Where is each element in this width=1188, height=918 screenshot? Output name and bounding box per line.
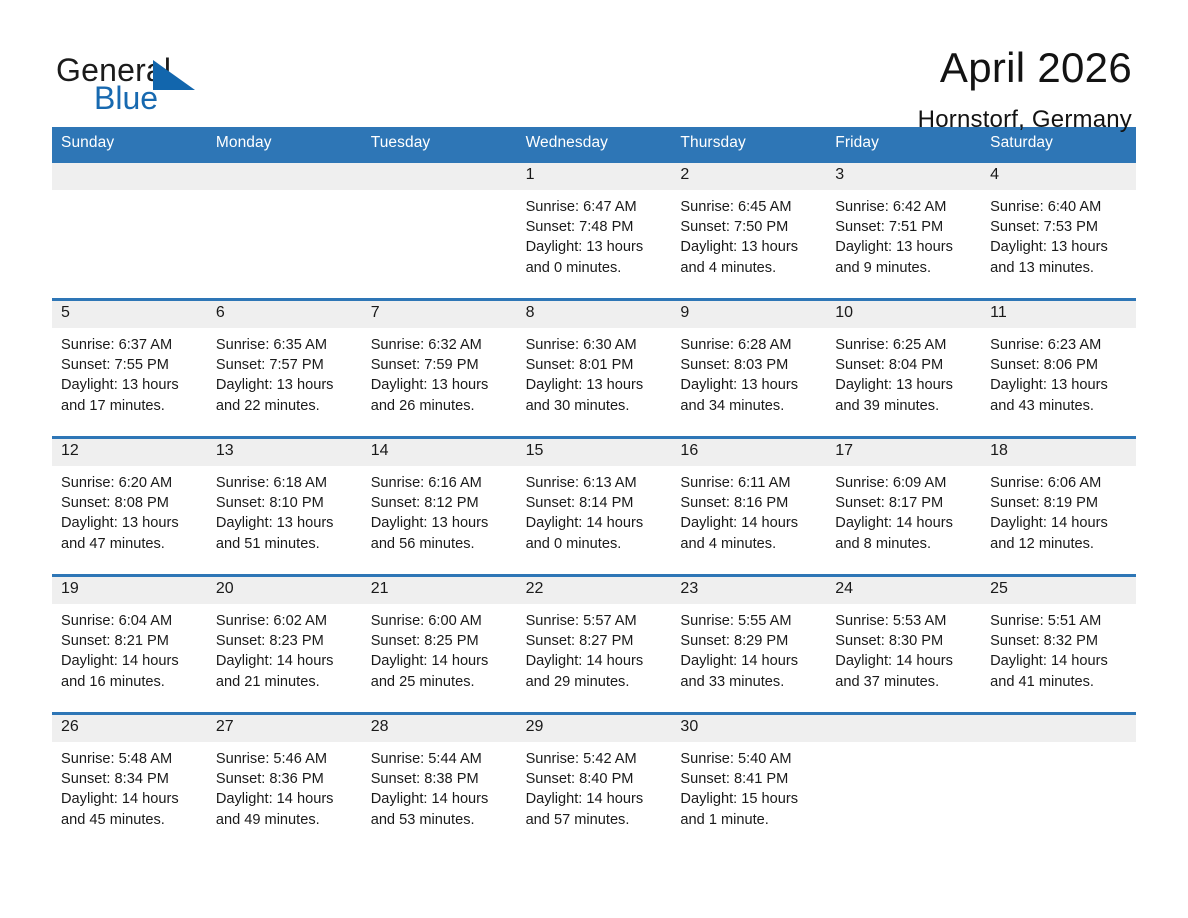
- day-info: Sunrise: 5:48 AM Sunset: 8:34 PM Dayligh…: [52, 742, 207, 830]
- day-cell[interactable]: 28 Sunrise: 5:44 AM Sunset: 8:38 PM Dayl…: [362, 715, 517, 850]
- day-number: 8: [517, 301, 672, 328]
- daylight-text: Daylight: 14 hours and 37 minutes.: [835, 651, 973, 691]
- day-info: Sunrise: 6:00 AM Sunset: 8:25 PM Dayligh…: [362, 604, 517, 692]
- day-info: Sunrise: 6:06 AM Sunset: 8:19 PM Dayligh…: [981, 466, 1136, 554]
- day-cell[interactable]: 23 Sunrise: 5:55 AM Sunset: 8:29 PM Dayl…: [671, 577, 826, 712]
- day-info: [207, 190, 362, 197]
- sunset-text: Sunset: 8:25 PM: [371, 631, 509, 651]
- day-cell[interactable]: 21 Sunrise: 6:00 AM Sunset: 8:25 PM Dayl…: [362, 577, 517, 712]
- daylight-text: Daylight: 13 hours and 4 minutes.: [680, 237, 818, 277]
- daylight-text: Daylight: 14 hours and 49 minutes.: [216, 789, 354, 829]
- sunset-text: Sunset: 8:17 PM: [835, 493, 973, 513]
- day-number: 12: [52, 439, 207, 466]
- day-cell[interactable]: 9 Sunrise: 6:28 AM Sunset: 8:03 PM Dayli…: [671, 301, 826, 436]
- day-cell: [826, 715, 981, 850]
- daylight-text: Daylight: 13 hours and 9 minutes.: [835, 237, 973, 277]
- day-info: [52, 190, 207, 197]
- daylight-text: Daylight: 14 hours and 16 minutes.: [61, 651, 199, 691]
- week-row: 1 Sunrise: 6:47 AM Sunset: 7:48 PM Dayli…: [52, 160, 1136, 298]
- day-number: 18: [981, 439, 1136, 466]
- day-info: Sunrise: 6:40 AM Sunset: 7:53 PM Dayligh…: [981, 190, 1136, 278]
- day-cell[interactable]: 14 Sunrise: 6:16 AM Sunset: 8:12 PM Dayl…: [362, 439, 517, 574]
- daylight-text: Daylight: 14 hours and 57 minutes.: [526, 789, 664, 829]
- day-info: Sunrise: 5:55 AM Sunset: 8:29 PM Dayligh…: [671, 604, 826, 692]
- day-number: [207, 163, 362, 190]
- day-info: [362, 190, 517, 197]
- day-cell[interactable]: 4 Sunrise: 6:40 AM Sunset: 7:53 PM Dayli…: [981, 163, 1136, 298]
- sunrise-text: Sunrise: 6:32 AM: [371, 335, 509, 355]
- general-blue-logo[interactable]: General Blue: [56, 44, 206, 116]
- day-cell[interactable]: 29 Sunrise: 5:42 AM Sunset: 8:40 PM Dayl…: [517, 715, 672, 850]
- daylight-text: Daylight: 15 hours and 1 minute.: [680, 789, 818, 829]
- sunset-text: Sunset: 8:29 PM: [680, 631, 818, 651]
- sunrise-text: Sunrise: 6:37 AM: [61, 335, 199, 355]
- week-row: 26 Sunrise: 5:48 AM Sunset: 8:34 PM Dayl…: [52, 712, 1136, 850]
- sunrise-text: Sunrise: 6:06 AM: [990, 473, 1128, 493]
- day-number: 24: [826, 577, 981, 604]
- day-info: Sunrise: 6:42 AM Sunset: 7:51 PM Dayligh…: [826, 190, 981, 278]
- sunset-text: Sunset: 8:38 PM: [371, 769, 509, 789]
- day-number: [362, 163, 517, 190]
- day-number: 30: [671, 715, 826, 742]
- day-number: 23: [671, 577, 826, 604]
- day-info: Sunrise: 6:13 AM Sunset: 8:14 PM Dayligh…: [517, 466, 672, 554]
- day-info: Sunrise: 5:42 AM Sunset: 8:40 PM Dayligh…: [517, 742, 672, 830]
- day-cell[interactable]: 17 Sunrise: 6:09 AM Sunset: 8:17 PM Dayl…: [826, 439, 981, 574]
- day-info: Sunrise: 6:47 AM Sunset: 7:48 PM Dayligh…: [517, 190, 672, 278]
- day-cell: [207, 163, 362, 298]
- day-cell[interactable]: 5 Sunrise: 6:37 AM Sunset: 7:55 PM Dayli…: [52, 301, 207, 436]
- sunrise-text: Sunrise: 6:16 AM: [371, 473, 509, 493]
- weekday-header-tuesday: Tuesday: [362, 127, 517, 160]
- day-info: Sunrise: 6:09 AM Sunset: 8:17 PM Dayligh…: [826, 466, 981, 554]
- sunset-text: Sunset: 8:41 PM: [680, 769, 818, 789]
- day-cell[interactable]: 10 Sunrise: 6:25 AM Sunset: 8:04 PM Dayl…: [826, 301, 981, 436]
- day-number: 10: [826, 301, 981, 328]
- daylight-text: Daylight: 13 hours and 17 minutes.: [61, 375, 199, 415]
- day-info: Sunrise: 5:44 AM Sunset: 8:38 PM Dayligh…: [362, 742, 517, 830]
- day-cell[interactable]: 1 Sunrise: 6:47 AM Sunset: 7:48 PM Dayli…: [517, 163, 672, 298]
- day-cell[interactable]: 25 Sunrise: 5:51 AM Sunset: 8:32 PM Dayl…: [981, 577, 1136, 712]
- sunrise-text: Sunrise: 5:44 AM: [371, 749, 509, 769]
- title-block: April 2026 Hornstorf, Germany: [918, 44, 1132, 134]
- sunset-text: Sunset: 7:48 PM: [526, 217, 664, 237]
- page-header: General Blue April 2026 Hornstorf, Germa…: [0, 0, 1188, 116]
- day-cell[interactable]: 16 Sunrise: 6:11 AM Sunset: 8:16 PM Dayl…: [671, 439, 826, 574]
- sunset-text: Sunset: 8:14 PM: [526, 493, 664, 513]
- day-number: 17: [826, 439, 981, 466]
- sunrise-text: Sunrise: 6:25 AM: [835, 335, 973, 355]
- day-number: 15: [517, 439, 672, 466]
- day-cell[interactable]: 18 Sunrise: 6:06 AM Sunset: 8:19 PM Dayl…: [981, 439, 1136, 574]
- day-info: Sunrise: 5:57 AM Sunset: 8:27 PM Dayligh…: [517, 604, 672, 692]
- day-cell[interactable]: 26 Sunrise: 5:48 AM Sunset: 8:34 PM Dayl…: [52, 715, 207, 850]
- sunrise-text: Sunrise: 6:18 AM: [216, 473, 354, 493]
- sunset-text: Sunset: 8:01 PM: [526, 355, 664, 375]
- daylight-text: Daylight: 14 hours and 29 minutes.: [526, 651, 664, 691]
- day-number: [52, 163, 207, 190]
- sunset-text: Sunset: 8:40 PM: [526, 769, 664, 789]
- logo-text-blue: Blue: [94, 82, 158, 114]
- sunset-text: Sunset: 8:27 PM: [526, 631, 664, 651]
- day-info: Sunrise: 6:45 AM Sunset: 7:50 PM Dayligh…: [671, 190, 826, 278]
- day-number: 19: [52, 577, 207, 604]
- day-cell[interactable]: 22 Sunrise: 5:57 AM Sunset: 8:27 PM Dayl…: [517, 577, 672, 712]
- day-info: Sunrise: 6:30 AM Sunset: 8:01 PM Dayligh…: [517, 328, 672, 416]
- day-info: Sunrise: 6:20 AM Sunset: 8:08 PM Dayligh…: [52, 466, 207, 554]
- daylight-text: Daylight: 14 hours and 8 minutes.: [835, 513, 973, 553]
- sunset-text: Sunset: 8:32 PM: [990, 631, 1128, 651]
- sunrise-text: Sunrise: 6:09 AM: [835, 473, 973, 493]
- day-info: Sunrise: 5:51 AM Sunset: 8:32 PM Dayligh…: [981, 604, 1136, 692]
- day-number: 11: [981, 301, 1136, 328]
- weekday-header-sunday: Sunday: [52, 127, 207, 160]
- day-number: 14: [362, 439, 517, 466]
- daylight-text: Daylight: 13 hours and 30 minutes.: [526, 375, 664, 415]
- sunrise-text: Sunrise: 6:23 AM: [990, 335, 1128, 355]
- sunrise-text: Sunrise: 6:30 AM: [526, 335, 664, 355]
- week-row: 5 Sunrise: 6:37 AM Sunset: 7:55 PM Dayli…: [52, 298, 1136, 436]
- daylight-text: Daylight: 13 hours and 51 minutes.: [216, 513, 354, 553]
- day-number: 20: [207, 577, 362, 604]
- logo-triangle-icon: [153, 60, 195, 90]
- day-info: Sunrise: 5:40 AM Sunset: 8:41 PM Dayligh…: [671, 742, 826, 830]
- day-number: 6: [207, 301, 362, 328]
- day-info: Sunrise: 6:32 AM Sunset: 7:59 PM Dayligh…: [362, 328, 517, 416]
- sunset-text: Sunset: 7:53 PM: [990, 217, 1128, 237]
- day-cell[interactable]: 27 Sunrise: 5:46 AM Sunset: 8:36 PM Dayl…: [207, 715, 362, 850]
- sunset-text: Sunset: 8:10 PM: [216, 493, 354, 513]
- day-info: Sunrise: 6:35 AM Sunset: 7:57 PM Dayligh…: [207, 328, 362, 416]
- sunrise-text: Sunrise: 6:00 AM: [371, 611, 509, 631]
- day-cell[interactable]: 12 Sunrise: 6:20 AM Sunset: 8:08 PM Dayl…: [52, 439, 207, 574]
- day-number: 26: [52, 715, 207, 742]
- day-info: Sunrise: 6:28 AM Sunset: 8:03 PM Dayligh…: [671, 328, 826, 416]
- sunrise-text: Sunrise: 6:20 AM: [61, 473, 199, 493]
- sunrise-text: Sunrise: 6:28 AM: [680, 335, 818, 355]
- week-row: 19 Sunrise: 6:04 AM Sunset: 8:21 PM Dayl…: [52, 574, 1136, 712]
- sunset-text: Sunset: 8:12 PM: [371, 493, 509, 513]
- day-number: 5: [52, 301, 207, 328]
- sunset-text: Sunset: 8:04 PM: [835, 355, 973, 375]
- daylight-text: Daylight: 14 hours and 12 minutes.: [990, 513, 1128, 553]
- weekday-header-thursday: Thursday: [671, 127, 826, 160]
- daylight-text: Daylight: 13 hours and 0 minutes.: [526, 237, 664, 277]
- sunrise-text: Sunrise: 6:42 AM: [835, 197, 973, 217]
- sunrise-text: Sunrise: 6:02 AM: [216, 611, 354, 631]
- sunset-text: Sunset: 7:51 PM: [835, 217, 973, 237]
- daylight-text: Daylight: 14 hours and 33 minutes.: [680, 651, 818, 691]
- daylight-text: Daylight: 14 hours and 0 minutes.: [526, 513, 664, 553]
- sunrise-text: Sunrise: 6:13 AM: [526, 473, 664, 493]
- sunrise-text: Sunrise: 5:55 AM: [680, 611, 818, 631]
- daylight-text: Daylight: 14 hours and 41 minutes.: [990, 651, 1128, 691]
- daylight-text: Daylight: 14 hours and 21 minutes.: [216, 651, 354, 691]
- daylight-text: Daylight: 14 hours and 53 minutes.: [371, 789, 509, 829]
- day-cell: [362, 163, 517, 298]
- weekday-header-friday: Friday: [826, 127, 981, 160]
- sunset-text: Sunset: 7:59 PM: [371, 355, 509, 375]
- daylight-text: Daylight: 13 hours and 22 minutes.: [216, 375, 354, 415]
- daylight-text: Daylight: 13 hours and 43 minutes.: [990, 375, 1128, 415]
- sunrise-text: Sunrise: 5:53 AM: [835, 611, 973, 631]
- sunrise-text: Sunrise: 5:40 AM: [680, 749, 818, 769]
- daylight-text: Daylight: 13 hours and 34 minutes.: [680, 375, 818, 415]
- day-cell[interactable]: 15 Sunrise: 6:13 AM Sunset: 8:14 PM Dayl…: [517, 439, 672, 574]
- daylight-text: Daylight: 13 hours and 56 minutes.: [371, 513, 509, 553]
- daylight-text: Daylight: 13 hours and 13 minutes.: [990, 237, 1128, 277]
- day-number: 2: [671, 163, 826, 190]
- day-cell: [981, 715, 1136, 850]
- week-row: 12 Sunrise: 6:20 AM Sunset: 8:08 PM Dayl…: [52, 436, 1136, 574]
- sunset-text: Sunset: 8:21 PM: [61, 631, 199, 651]
- day-info: Sunrise: 6:11 AM Sunset: 8:16 PM Dayligh…: [671, 466, 826, 554]
- sunset-text: Sunset: 8:06 PM: [990, 355, 1128, 375]
- day-number: 29: [517, 715, 672, 742]
- calendar-grid: Sunday Monday Tuesday Wednesday Thursday…: [52, 127, 1136, 850]
- sunset-text: Sunset: 8:16 PM: [680, 493, 818, 513]
- sunrise-text: Sunrise: 6:35 AM: [216, 335, 354, 355]
- day-info: Sunrise: 6:23 AM Sunset: 8:06 PM Dayligh…: [981, 328, 1136, 416]
- day-info: [826, 742, 981, 749]
- day-cell: [52, 163, 207, 298]
- day-info: Sunrise: 6:16 AM Sunset: 8:12 PM Dayligh…: [362, 466, 517, 554]
- day-number: [826, 715, 981, 742]
- day-number: 7: [362, 301, 517, 328]
- day-number: 21: [362, 577, 517, 604]
- daylight-text: Daylight: 14 hours and 25 minutes.: [371, 651, 509, 691]
- daylight-text: Daylight: 13 hours and 39 minutes.: [835, 375, 973, 415]
- sunset-text: Sunset: 7:57 PM: [216, 355, 354, 375]
- day-number: 27: [207, 715, 362, 742]
- day-info: Sunrise: 6:25 AM Sunset: 8:04 PM Dayligh…: [826, 328, 981, 416]
- sunset-text: Sunset: 8:23 PM: [216, 631, 354, 651]
- weekday-header-monday: Monday: [207, 127, 362, 160]
- day-number: [981, 715, 1136, 742]
- sunset-text: Sunset: 8:08 PM: [61, 493, 199, 513]
- sunset-text: Sunset: 8:34 PM: [61, 769, 199, 789]
- sunset-text: Sunset: 8:19 PM: [990, 493, 1128, 513]
- weekday-header-wednesday: Wednesday: [517, 127, 672, 160]
- day-cell[interactable]: 19 Sunrise: 6:04 AM Sunset: 8:21 PM Dayl…: [52, 577, 207, 712]
- day-cell[interactable]: 24 Sunrise: 5:53 AM Sunset: 8:30 PM Dayl…: [826, 577, 981, 712]
- daylight-text: Daylight: 14 hours and 45 minutes.: [61, 789, 199, 829]
- daylight-text: Daylight: 13 hours and 26 minutes.: [371, 375, 509, 415]
- day-number: 1: [517, 163, 672, 190]
- calendar-page: General Blue April 2026 Hornstorf, Germa…: [0, 0, 1188, 918]
- day-number: 16: [671, 439, 826, 466]
- sunset-text: Sunset: 8:36 PM: [216, 769, 354, 789]
- day-cell[interactable]: 3 Sunrise: 6:42 AM Sunset: 7:51 PM Dayli…: [826, 163, 981, 298]
- sunrise-text: Sunrise: 6:40 AM: [990, 197, 1128, 217]
- day-number: 13: [207, 439, 362, 466]
- day-info: Sunrise: 6:18 AM Sunset: 8:10 PM Dayligh…: [207, 466, 362, 554]
- day-cell[interactable]: 6 Sunrise: 6:35 AM Sunset: 7:57 PM Dayli…: [207, 301, 362, 436]
- sunset-text: Sunset: 8:30 PM: [835, 631, 973, 651]
- day-info: Sunrise: 5:46 AM Sunset: 8:36 PM Dayligh…: [207, 742, 362, 830]
- sunrise-text: Sunrise: 6:47 AM: [526, 197, 664, 217]
- day-cell[interactable]: 7 Sunrise: 6:32 AM Sunset: 7:59 PM Dayli…: [362, 301, 517, 436]
- day-number: 3: [826, 163, 981, 190]
- sunset-text: Sunset: 7:50 PM: [680, 217, 818, 237]
- day-cell[interactable]: 11 Sunrise: 6:23 AM Sunset: 8:06 PM Dayl…: [981, 301, 1136, 436]
- sunrise-text: Sunrise: 5:57 AM: [526, 611, 664, 631]
- sunrise-text: Sunrise: 6:04 AM: [61, 611, 199, 631]
- page-title: April 2026: [918, 46, 1132, 90]
- day-number: 9: [671, 301, 826, 328]
- day-cell[interactable]: 13 Sunrise: 6:18 AM Sunset: 8:10 PM Dayl…: [207, 439, 362, 574]
- sunrise-text: Sunrise: 5:51 AM: [990, 611, 1128, 631]
- sunrise-text: Sunrise: 6:45 AM: [680, 197, 818, 217]
- day-info: [981, 742, 1136, 749]
- weekday-header-row: Sunday Monday Tuesday Wednesday Thursday…: [52, 127, 1136, 160]
- day-number: 28: [362, 715, 517, 742]
- day-cell[interactable]: 8 Sunrise: 6:30 AM Sunset: 8:01 PM Dayli…: [517, 301, 672, 436]
- sunset-text: Sunset: 7:55 PM: [61, 355, 199, 375]
- day-cell[interactable]: 2 Sunrise: 6:45 AM Sunset: 7:50 PM Dayli…: [671, 163, 826, 298]
- daylight-text: Daylight: 13 hours and 47 minutes.: [61, 513, 199, 553]
- sunrise-text: Sunrise: 5:46 AM: [216, 749, 354, 769]
- sunrise-text: Sunrise: 5:48 AM: [61, 749, 199, 769]
- day-info: Sunrise: 6:37 AM Sunset: 7:55 PM Dayligh…: [52, 328, 207, 416]
- weekday-header-saturday: Saturday: [981, 127, 1136, 160]
- day-number: 22: [517, 577, 672, 604]
- day-number: 25: [981, 577, 1136, 604]
- sunrise-text: Sunrise: 6:11 AM: [680, 473, 818, 493]
- day-info: Sunrise: 6:02 AM Sunset: 8:23 PM Dayligh…: [207, 604, 362, 692]
- daylight-text: Daylight: 14 hours and 4 minutes.: [680, 513, 818, 553]
- day-number: 4: [981, 163, 1136, 190]
- day-info: Sunrise: 6:04 AM Sunset: 8:21 PM Dayligh…: [52, 604, 207, 692]
- day-info: Sunrise: 5:53 AM Sunset: 8:30 PM Dayligh…: [826, 604, 981, 692]
- day-cell[interactable]: 20 Sunrise: 6:02 AM Sunset: 8:23 PM Dayl…: [207, 577, 362, 712]
- sunset-text: Sunset: 8:03 PM: [680, 355, 818, 375]
- day-cell[interactable]: 30 Sunrise: 5:40 AM Sunset: 8:41 PM Dayl…: [671, 715, 826, 850]
- sunrise-text: Sunrise: 5:42 AM: [526, 749, 664, 769]
